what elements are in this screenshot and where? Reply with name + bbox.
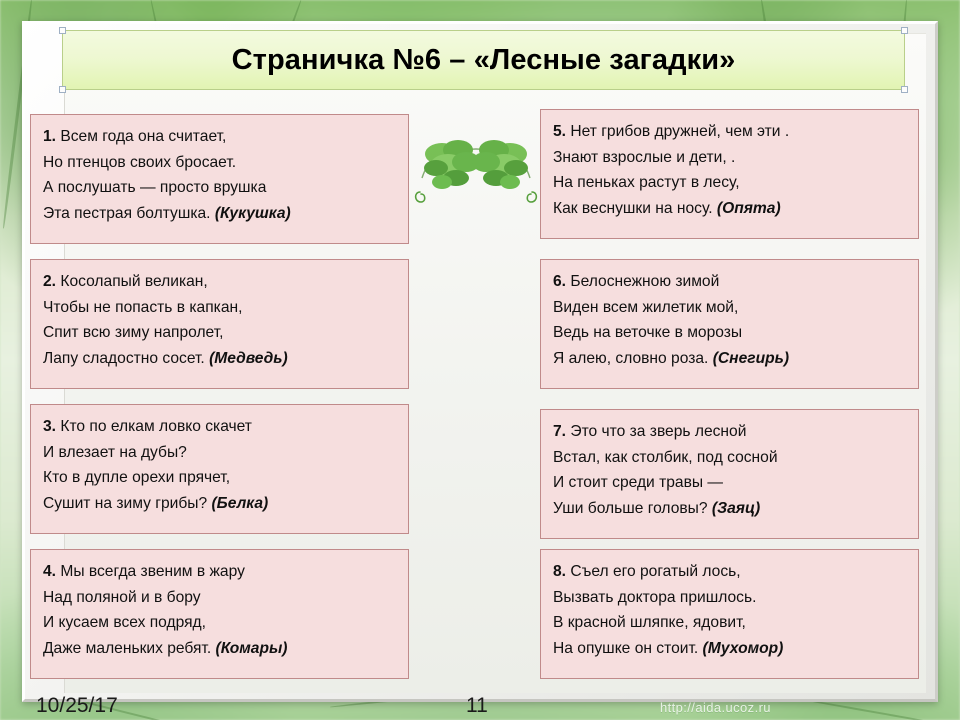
riddle-line: 1. Всем года она считает, — [43, 124, 396, 150]
riddle-text: Это что за зверь лесной — [570, 423, 746, 440]
riddle-line: 5. Нет грибов дружней, чем эти . — [553, 119, 906, 145]
riddle-line: 8. Съел его рогатый лось, — [553, 559, 906, 585]
riddle-line: И влезает на дубы? — [43, 440, 396, 466]
riddle-line: Виден всем жилетик мой, — [553, 295, 906, 321]
riddle-text: Всем года она считает, — [60, 128, 226, 145]
riddle-card[interactable]: 6. Белоснежною зимой Виден всем жилетик … — [540, 259, 919, 389]
riddle-line: 2. Косолапый великан, — [43, 269, 396, 295]
page-title-box[interactable]: Страничка №6 – «Лесные загадки» — [62, 30, 905, 90]
riddle-line: Как веснушки на носу. (Опята) — [553, 196, 906, 222]
riddle-line: Кто в дупле орехи прячет, — [43, 465, 396, 491]
riddle-answer: (Кукушка) — [215, 205, 291, 222]
riddle-line: Сушит на зиму грибы? (Белка) — [43, 491, 396, 517]
riddle-card[interactable]: 4. Мы всегда звеним в жару Над поляной и… — [30, 549, 409, 679]
riddle-line: И стоит среди травы — — [553, 470, 906, 496]
riddle-line: Уши больше головы? (Заяц) — [553, 496, 906, 522]
riddle-text: Уши больше головы? — [553, 500, 708, 517]
riddle-number: 4. — [43, 563, 56, 580]
resize-handle-bl[interactable] — [59, 86, 66, 93]
riddle-line: Спит всю зиму напролет, — [43, 320, 396, 346]
riddle-answer: (Заяц) — [712, 500, 760, 517]
riddle-text: Кто по елкам ловко скачет — [60, 418, 252, 435]
riddle-line: А послушать — просто врушка — [43, 175, 396, 201]
riddle-answer: (Снегирь) — [713, 350, 789, 367]
riddle-line: Даже маленьких ребят. (Комары) — [43, 636, 396, 662]
riddle-line: 7. Это что за зверь лесной — [553, 419, 906, 445]
resize-handle-br[interactable] — [901, 86, 908, 93]
riddle-answer: (Комары) — [216, 640, 288, 657]
riddle-number: 2. — [43, 273, 56, 290]
riddle-line: Но птенцов своих бросает. — [43, 150, 396, 176]
riddle-text: Мы всегда звеним в жару — [60, 563, 245, 580]
footer-date: 10/25/17 — [36, 694, 118, 718]
riddle-text: Даже маленьких ребят. — [43, 640, 211, 657]
riddle-line: Я алею, словно роза. (Снегирь) — [553, 346, 906, 372]
riddle-line: Встал, как столбик, под сосной — [553, 445, 906, 471]
riddle-line: Вызвать доктора пришлось. — [553, 585, 906, 611]
riddle-number: 6. — [553, 273, 566, 290]
riddle-line: 4. Мы всегда звеним в жару — [43, 559, 396, 585]
riddle-card[interactable]: 7. Это что за зверь лесной Встал, как ст… — [540, 409, 919, 539]
riddle-number: 8. — [553, 563, 566, 580]
riddle-card[interactable]: 2. Косолапый великан, Чтобы не попасть в… — [30, 259, 409, 389]
riddle-card[interactable]: 5. Нет грибов дружней, чем эти . Знают в… — [540, 109, 919, 239]
riddle-answer: (Медведь) — [209, 350, 288, 367]
riddle-number: 5. — [553, 123, 566, 140]
riddle-text: Я алею, словно роза. — [553, 350, 708, 367]
riddle-card[interactable]: 8. Съел его рогатый лось, Вызвать доктор… — [540, 549, 919, 679]
riddle-card[interactable]: 1. Всем года она считает, Но птенцов сво… — [30, 114, 409, 244]
riddle-line: 6. Белоснежною зимой — [553, 269, 906, 295]
riddle-line: Ведь на веточке в морозы — [553, 320, 906, 346]
riddle-number: 7. — [553, 423, 566, 440]
riddle-answer: (Белка) — [211, 495, 268, 512]
riddle-line: Чтобы не попасть в капкан, — [43, 295, 396, 321]
riddle-text: Эта пестрая болтушка. — [43, 205, 211, 222]
riddle-line: 3. Кто по елкам ловко скачет — [43, 414, 396, 440]
riddle-line: Над поляной и в бору — [43, 585, 396, 611]
riddle-text: Косолапый великан, — [60, 273, 207, 290]
riddle-line: И кусаем всех подряд, — [43, 610, 396, 636]
riddle-line: Эта пестрая болтушка. (Кукушка) — [43, 201, 396, 227]
riddle-line: В красной шляпке, ядовит, — [553, 610, 906, 636]
riddle-line: Лапу сладостно сосет. (Медведь) — [43, 346, 396, 372]
riddle-number: 1. — [43, 128, 56, 145]
resize-handle-tr[interactable] — [901, 27, 908, 34]
riddle-text: Лапу сладостно сосет. — [43, 350, 205, 367]
riddle-answer: (Мухомор) — [703, 640, 784, 657]
slide-root: Страничка №6 – «Лесные загадки» — [0, 0, 960, 720]
riddle-text: На опушке он стоит. — [553, 640, 698, 657]
page-title: Страничка №6 – «Лесные загадки» — [232, 44, 736, 77]
riddle-text: Белоснежною зимой — [570, 273, 719, 290]
riddle-text: Нет грибов дружней, чем эти . — [570, 123, 789, 140]
riddle-card[interactable]: 3. Кто по елкам ловко скачет И влезает н… — [30, 404, 409, 534]
riddle-line: Знают взрослые и дети, . — [553, 145, 906, 171]
grape-leaf-vine-icon — [412, 118, 540, 226]
riddle-answer: (Опята) — [717, 200, 781, 217]
riddle-line: На пеньках растут в лесу, — [553, 170, 906, 196]
riddle-text: Съел его рогатый лось, — [570, 563, 740, 580]
riddle-line: На опушке он стоит. (Мухомор) — [553, 636, 906, 662]
riddle-number: 3. — [43, 418, 56, 435]
riddle-text: Как веснушки на носу. — [553, 200, 713, 217]
riddle-text: Сушит на зиму грибы? — [43, 495, 207, 512]
site-watermark: http://aida.ucoz.ru — [660, 700, 771, 715]
resize-handle-tl[interactable] — [59, 27, 66, 34]
footer-page-number: 11 — [466, 694, 488, 718]
